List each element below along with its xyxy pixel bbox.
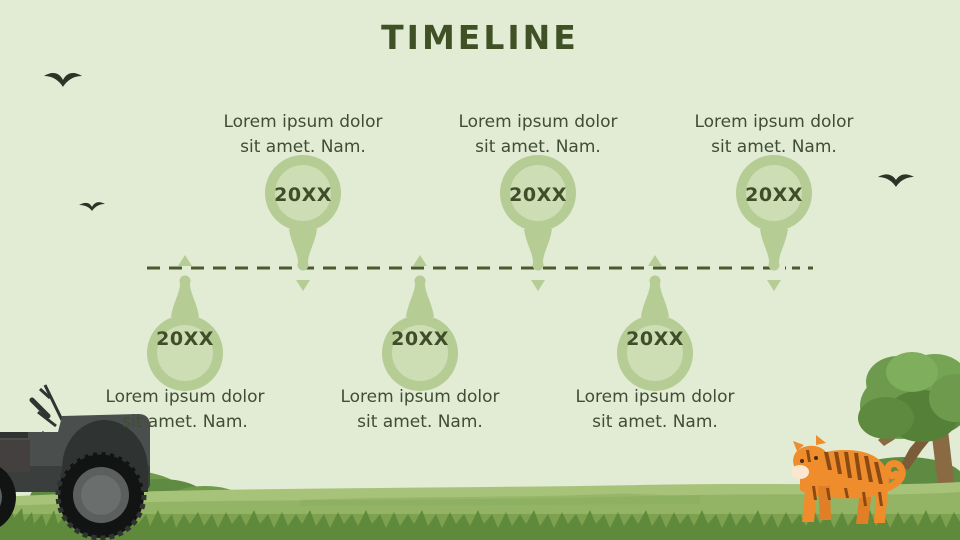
caption-line-2: sit amet. Nam.	[545, 410, 765, 435]
caption-line-1: Lorem ipsum dolor	[545, 385, 765, 410]
caption-line-1: Lorem ipsum dolor	[310, 385, 530, 410]
timeline-marker-m5[interactable]: 20XX	[610, 245, 700, 395]
marker-pin-shape	[610, 245, 700, 395]
timeline-marker-m4[interactable]: 20XX	[493, 151, 583, 301]
timeline-caption-m5: Lorem ipsum dolorsit amet. Nam.	[545, 385, 765, 435]
marker-pin-shape	[493, 151, 583, 301]
timeline-marker-m3[interactable]: 20XX	[375, 245, 465, 395]
marker-pin-shape	[375, 245, 465, 395]
caption-line-1: Lorem ipsum dolor	[428, 110, 648, 135]
bird-silhouette-left-lower	[79, 202, 105, 211]
timeline-caption-m2: Lorem ipsum dolorsit amet. Nam.	[193, 110, 413, 160]
caption-line-1: Lorem ipsum dolor	[75, 385, 295, 410]
page-title: TIMELINE	[0, 18, 960, 57]
timeline-caption-m4: Lorem ipsum dolorsit amet. Nam.	[428, 110, 648, 160]
acacia-tree	[858, 352, 960, 540]
marker-year-label: 20XX	[258, 184, 348, 206]
timeline-marker-m2[interactable]: 20XX	[258, 151, 348, 301]
caption-line-1: Lorem ipsum dolor	[664, 110, 884, 135]
caption-line-2: sit amet. Nam.	[75, 410, 295, 435]
bird-silhouette-left-upper	[44, 73, 82, 87]
marker-year-label: 20XX	[610, 328, 700, 350]
bush-cluster-left	[30, 470, 241, 515]
marker-year-label: 20XX	[493, 184, 583, 206]
caption-line-1: Lorem ipsum dolor	[193, 110, 413, 135]
marker-pin-shape	[729, 151, 819, 301]
caption-line-2: sit amet. Nam.	[664, 135, 884, 160]
timeline-caption-m6: Lorem ipsum dolorsit amet. Nam.	[664, 110, 884, 160]
marker-year-label: 20XX	[375, 328, 465, 350]
bird-silhouette-right	[878, 174, 914, 187]
marker-year-label: 20XX	[729, 184, 819, 206]
timeline-marker-m1[interactable]: 20XX	[140, 245, 230, 395]
timeline-marker-m6[interactable]: 20XX	[729, 151, 819, 301]
marker-pin-shape	[140, 245, 230, 395]
caption-line-2: sit amet. Nam.	[193, 135, 413, 160]
tiger	[791, 435, 902, 524]
timeline-caption-m1: Lorem ipsum dolorsit amet. Nam.	[75, 385, 295, 435]
timeline-dashed-line	[146, 266, 814, 270]
caption-line-2: sit amet. Nam.	[428, 135, 648, 160]
timeline-caption-m3: Lorem ipsum dolorsit amet. Nam.	[310, 385, 530, 435]
marker-year-label: 20XX	[140, 328, 230, 350]
timeline-slide: TIMELINE 20XXLorem ipsum dolorsit amet. …	[0, 0, 960, 540]
grass-blades	[0, 504, 960, 540]
bush-cluster-right	[822, 457, 960, 500]
caption-line-2: sit amet. Nam.	[310, 410, 530, 435]
marker-pin-shape	[258, 151, 348, 301]
